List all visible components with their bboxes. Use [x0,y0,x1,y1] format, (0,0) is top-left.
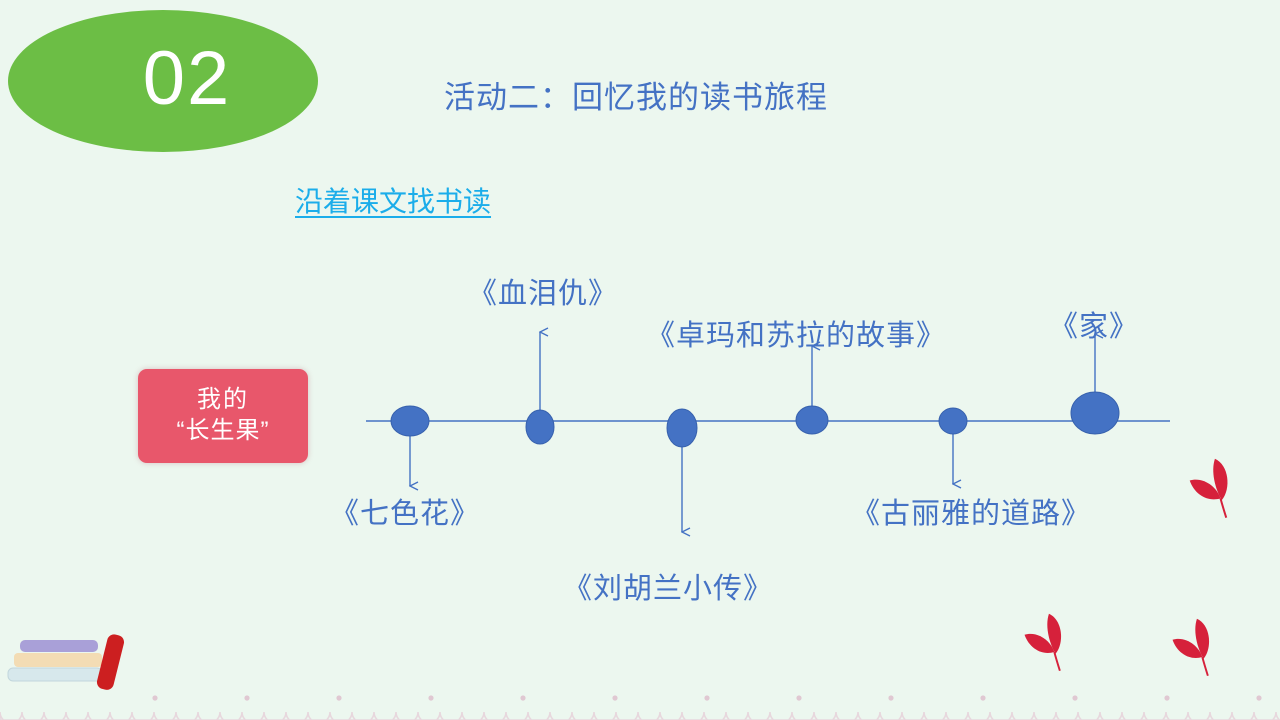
leaf-sprig-bottom-right [1168,615,1226,679]
slide-canvas: 02 活动二：回忆我的读书旅程 沿着课文找书读 我的 “长生果” 《七色花》《血… [0,0,1280,720]
border-dot [888,695,893,700]
book-title-1: 《七色花》 [330,490,480,532]
timeline-node-4[interactable] [796,406,828,434]
border-dot [152,695,157,700]
origin-label-line2: “长生果” [177,416,270,447]
timeline-node-6[interactable] [1071,392,1119,434]
timeline-node-1[interactable] [391,406,429,436]
timeline-node-5[interactable] [939,408,967,434]
border-dot [520,695,525,700]
page-title: 活动二：回忆我的读书旅程 [444,72,828,117]
section-number-text: 02 [95,41,232,121]
scalloped-border [0,686,1280,720]
timeline-nodes [391,392,1119,447]
border-dot [244,695,249,700]
leaf-sprig-right-upper [1185,455,1245,521]
origin-label-box: 我的 “长生果” [138,369,308,463]
border-dot [1164,695,1169,700]
timeline-node-3[interactable] [667,409,697,447]
book-title-4: 《卓玛和苏拉的故事》 [646,312,946,354]
border-dot [1256,695,1261,700]
book-title-2: 《血泪仇》 [468,270,618,312]
border-dot [796,695,801,700]
subtitle-link[interactable]: 沿着课文找书读 [295,180,491,220]
border-dot [1072,695,1077,700]
book-title-5: 《古丽雅的道路》 [851,490,1091,532]
scallop-wave [0,712,1280,720]
border-dot [612,695,617,700]
book-title-6: 《家》 [1049,303,1139,345]
leaf-sprig-bottom-left [1020,610,1078,674]
border-dot [704,695,709,700]
border-dot [428,695,433,700]
section-number-badge: 02 [8,10,318,152]
timeline-node-2[interactable] [526,410,554,444]
origin-label-line1: 我的 [197,385,249,416]
book-title-3: 《刘胡兰小传》 [563,565,773,607]
border-dot [980,695,985,700]
border-dot [336,695,341,700]
